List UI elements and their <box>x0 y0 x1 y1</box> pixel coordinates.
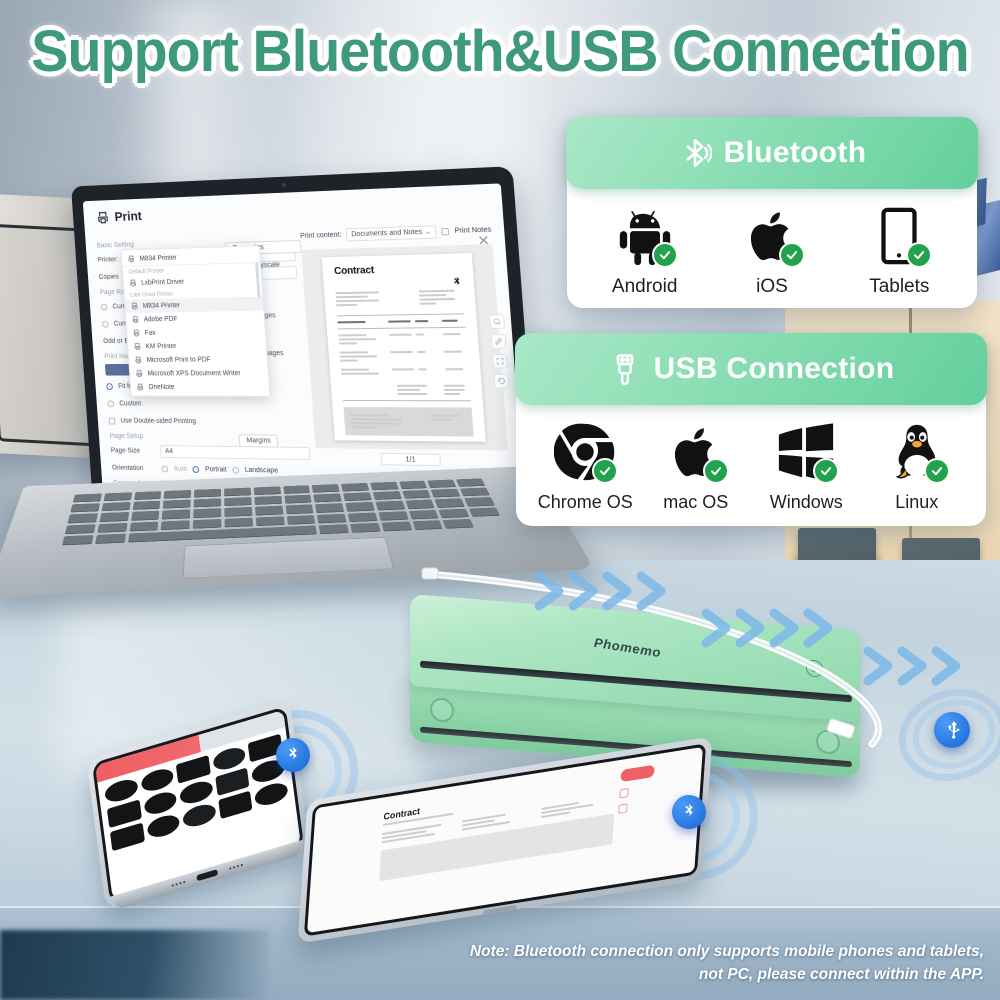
sticker-item[interactable] <box>254 780 289 809</box>
dropdown-option-label: M834 Printer <box>143 302 181 309</box>
chevron-down-icon <box>425 229 432 235</box>
bluetooth-card-title: Bluetooth <box>724 136 867 170</box>
printer-dropdown-selected-label: M834 Printer <box>139 254 177 262</box>
bluetooth-badge-phone <box>276 738 310 772</box>
printer-icon <box>131 302 139 310</box>
radio-current-page[interactable] <box>102 321 109 328</box>
edit-tool-button[interactable] <box>491 334 507 349</box>
document-subtitle <box>335 276 462 284</box>
flow-arrow <box>862 645 1000 692</box>
preview-side-toolbar <box>489 314 510 388</box>
laptop-screen: Print Basic Setting Printer: Copies <box>83 183 525 501</box>
usb-drive-icon <box>608 350 642 388</box>
supported-check-badge <box>703 458 729 484</box>
status-time <box>322 810 323 815</box>
apple-icon-wrap <box>665 421 727 483</box>
supported-check-badge <box>652 242 678 268</box>
laptop: Print Basic Setting Printer: Copies <box>28 176 538 636</box>
rotate-tool-button[interactable] <box>494 374 510 389</box>
radio-auto[interactable] <box>161 466 168 473</box>
checkbox-double-sided[interactable] <box>109 418 116 425</box>
apple-icon-wrap <box>741 205 803 267</box>
chrome-icon-wrap <box>554 421 616 483</box>
dropdown-option-ms-print-to-pdf[interactable]: Microsoft Print to PDF <box>129 352 268 367</box>
print-content-value: Documents and Notes <box>351 229 422 238</box>
pencil-icon <box>494 337 503 345</box>
page-title: Support Bluetooth&USB Connection <box>20 18 980 85</box>
sticker-item[interactable] <box>182 801 217 830</box>
portrait-label: Portrait <box>205 466 227 473</box>
os-item-linux: Linux <box>865 421 969 513</box>
bluetooth-badge-tablet <box>672 795 706 829</box>
desk-shadow-corner <box>0 930 270 1000</box>
document-terms-box <box>344 407 473 436</box>
os-item-tablets: Tablets <box>843 205 955 298</box>
os-item-chromeos: Chrome OS <box>533 421 637 513</box>
speaker-grill-left <box>172 881 186 887</box>
double-sided-label: Use Double-sided Printing <box>120 418 196 425</box>
bluetooth-support-card: Bluetooth Android <box>567 118 977 308</box>
radio-landscape[interactable] <box>232 467 239 474</box>
os-item-macos: mac OS <box>644 421 748 513</box>
windows-icon-wrap <box>775 421 837 483</box>
os-label-ios: iOS <box>756 276 788 298</box>
dropdown-option-label: Adobe PDF <box>144 315 178 322</box>
print-dialog-title: Print <box>96 208 142 224</box>
printer-icon <box>133 343 141 351</box>
laptop-base <box>0 466 594 597</box>
bluetooth-card-header: Bluetooth <box>566 117 978 189</box>
chevron-arrow-icon <box>700 607 900 649</box>
os-label-android: Android <box>612 276 678 298</box>
usb-card-title: USB Connection <box>654 352 895 386</box>
laptop-keyboard[interactable] <box>62 478 505 545</box>
speaker-grill-right <box>229 864 243 870</box>
os-label-chromeos: Chrome OS <box>538 492 633 513</box>
printer-icon <box>133 329 141 337</box>
printer-icon <box>127 255 135 263</box>
printer-dropdown[interactable]: M834 Printer Default Printer LxbPrint Dr… <box>121 245 271 397</box>
status-icons <box>694 751 695 756</box>
product-scene: Print Basic Setting Printer: Copies <box>0 0 1000 1000</box>
margins-button[interactable]: Margins <box>238 434 278 447</box>
expand-icon <box>496 357 505 365</box>
bluetooth-icon <box>678 134 712 172</box>
check-icon <box>598 464 612 478</box>
supported-check-badge <box>779 242 805 268</box>
fit-tool-button[interactable] <box>492 354 508 369</box>
sticker-item[interactable] <box>143 789 178 818</box>
printer-icon <box>96 210 110 224</box>
usb-connection-badge <box>934 712 970 748</box>
page-size-label: Page Size <box>111 447 155 454</box>
landscape-label: Landscape <box>245 467 279 475</box>
dropdown-option-ms-xps-writer[interactable]: Microsoft XPS Document Writer <box>130 366 269 380</box>
footer-note: Note: Bluetooth connection only supports… <box>464 941 984 986</box>
laptop-camera <box>282 183 286 187</box>
printer-icon <box>136 383 144 391</box>
power-icon <box>810 664 819 674</box>
print-preview-panel: Print content: Documents and Notes Print… <box>300 223 510 469</box>
dropdown-option-label: OneNote <box>148 384 175 391</box>
os-item-android: Android <box>589 205 701 298</box>
usb-card-header: USB Connection <box>515 333 987 405</box>
check-icon <box>912 248 926 262</box>
power-button[interactable] <box>806 659 823 677</box>
bluetooth-card-body: Android iOS <box>567 189 977 312</box>
radio-custom[interactable] <box>107 400 114 407</box>
radio-current[interactable] <box>101 304 108 311</box>
dropdown-option-km-printer[interactable]: KM Printer <box>128 338 267 353</box>
laptop-trackpad[interactable] <box>182 537 394 579</box>
os-label-macos: mac OS <box>663 492 728 513</box>
os-label-tablets: Tablets <box>869 276 929 298</box>
tablet-icon-wrap <box>868 205 930 267</box>
bluetooth-icon <box>449 274 463 291</box>
os-label-windows: Windows <box>770 492 843 513</box>
document-parties <box>335 287 463 308</box>
sticker-item[interactable] <box>176 755 211 784</box>
orientation-label: Orientation <box>112 465 156 473</box>
checkbox-print-notes[interactable] <box>442 228 450 235</box>
print-notes-label: Print Notes <box>454 226 491 234</box>
os-item-windows: Windows <box>754 421 858 513</box>
printer-icon <box>132 316 140 324</box>
os-item-ios: iOS <box>716 205 828 298</box>
radio-fit-for-page[interactable] <box>106 383 113 390</box>
check-icon <box>785 248 799 262</box>
dropdown-option-label: KM Printer <box>145 343 176 350</box>
bluetooth-icon <box>680 803 698 821</box>
dropdown-option-label: Microsoft Print to PDF <box>146 356 211 363</box>
check-icon <box>658 248 672 262</box>
linux-icon-wrap <box>886 421 948 483</box>
dropdown-option-label: Fax <box>145 329 156 336</box>
preview-header: Print content: Documents and Notes Print… <box>300 223 492 243</box>
chevron-arrow-icon <box>533 570 733 612</box>
auto-label: Auto <box>174 466 188 473</box>
sticker-item[interactable] <box>179 778 214 807</box>
usb-support-card: USB Connection Chrome OS <box>516 334 986 526</box>
dropdown-option-label: LxbPrint Driver <box>141 278 184 286</box>
magnifier-icon <box>493 317 502 325</box>
radio-portrait[interactable] <box>193 466 200 473</box>
sticker-item[interactable] <box>110 823 145 852</box>
sticker-item[interactable] <box>140 766 175 795</box>
sticker-item[interactable] <box>146 812 181 841</box>
document-totals <box>342 383 470 398</box>
usb-c-port <box>196 869 218 881</box>
laptop-lid: Print Basic Setting Printer: Copies <box>71 166 538 512</box>
zoom-tool-button[interactable] <box>489 314 505 329</box>
usb-icon <box>942 720 962 740</box>
bluetooth-icon <box>284 746 302 764</box>
check-icon <box>709 464 723 478</box>
print-content-label: Print content: <box>300 232 342 240</box>
rotate-icon <box>497 377 506 385</box>
print-dialog-title-text: Print <box>114 208 142 223</box>
check-icon <box>930 464 944 478</box>
printer-icon <box>134 356 142 364</box>
check-icon <box>819 464 833 478</box>
usb-card-body: Chrome OS mac OS <box>516 405 986 527</box>
preview-stage: Contract <box>301 244 508 450</box>
os-label-linux: Linux <box>895 492 938 513</box>
document-preview: Contract <box>322 253 485 442</box>
print-dialog: Print Basic Setting Printer: Copies <box>83 183 525 501</box>
chevron-arrow-icon <box>862 645 1000 687</box>
document-table <box>337 313 470 401</box>
page-indicator: 1/1 <box>380 453 441 466</box>
printer-icon <box>135 370 143 378</box>
printer-icon <box>129 279 137 287</box>
document-title: Contract <box>334 263 461 277</box>
custom-label: Custom <box>119 400 142 407</box>
sticker-item[interactable] <box>218 791 253 820</box>
android-icon-wrap <box>614 205 676 267</box>
supported-check-badge <box>924 458 950 484</box>
dropdown-option-label: Microsoft XPS Document Writer <box>147 370 240 377</box>
print-content-select[interactable]: Documents and Notes <box>346 225 437 241</box>
dropdown-option-onenote[interactable]: OneNote <box>131 380 270 394</box>
